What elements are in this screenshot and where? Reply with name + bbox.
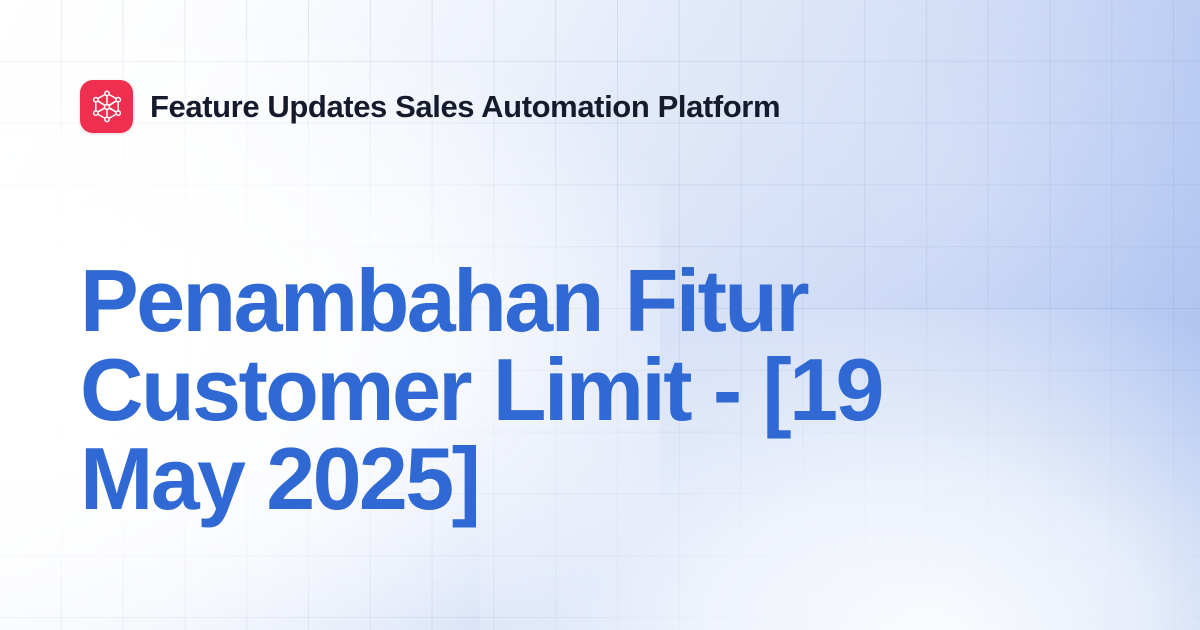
og-card: Feature Updates Sales Automation Platfor… bbox=[0, 0, 1200, 630]
brand-header: Feature Updates Sales Automation Platfor… bbox=[80, 80, 1120, 133]
brand-title: Feature Updates Sales Automation Platfor… bbox=[150, 91, 780, 122]
network-hexagon-icon bbox=[90, 90, 124, 124]
page-title: Penambahan Fitur Customer Limit - [19 Ma… bbox=[80, 256, 1060, 523]
card-content: Feature Updates Sales Automation Platfor… bbox=[0, 0, 1200, 630]
brand-logo bbox=[80, 80, 133, 133]
